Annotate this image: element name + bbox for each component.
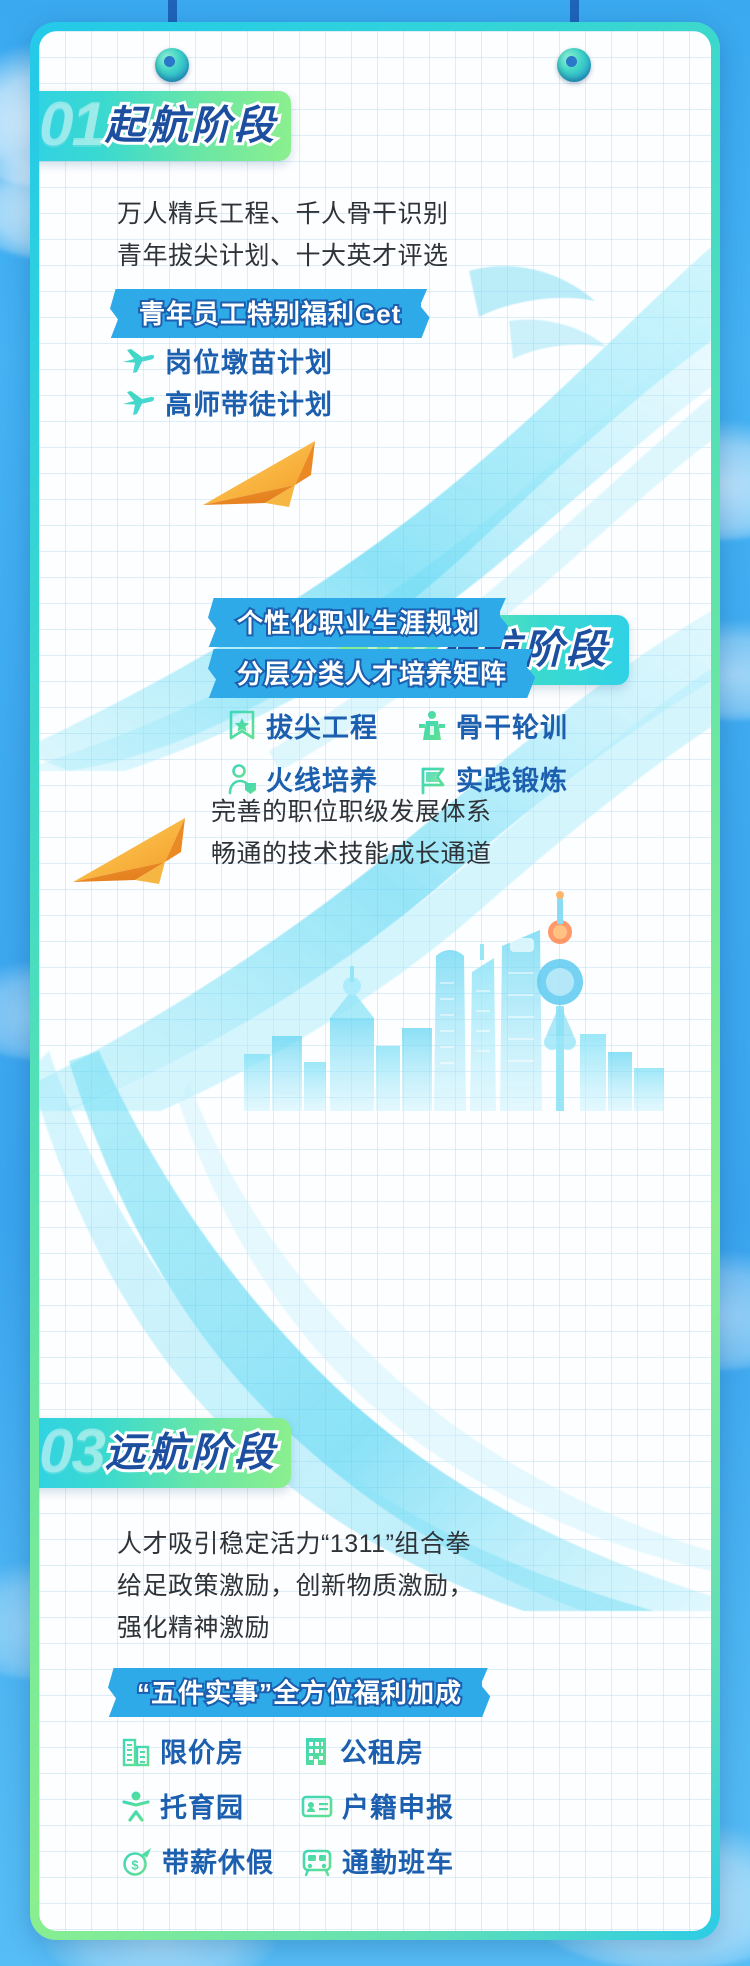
podium-speaker-icon xyxy=(417,710,447,742)
hanging-pin xyxy=(155,48,189,82)
bookmark-star-icon xyxy=(227,710,257,742)
stage-03-item-1-label: 公租房 xyxy=(340,1731,424,1770)
stage-03-item-2-label: 托育园 xyxy=(160,1786,244,1825)
stage-ribbon-03: 03 远航阶段 xyxy=(39,1418,291,1488)
benefit-banner-01: 青年员工特别福利Get xyxy=(119,289,421,338)
stage-paragraph-03: 人才吸引稳定活力“1311”组合拳 给足政策激励，创新物质激励， 强化精神激励 xyxy=(117,1523,637,1649)
stage-01-item-1: 高师带徒计划 xyxy=(121,383,333,422)
stage-title-01: 起航阶段 xyxy=(105,106,277,146)
id-card-icon xyxy=(301,1790,333,1822)
stage-02-banner-1: 分层分类人才培养矩阵 xyxy=(217,649,527,698)
paid-leave-icon: $ xyxy=(121,1845,153,1877)
stage-01-item-0-label: 岗位墩苗计划 xyxy=(165,341,333,380)
airplane-icon xyxy=(121,346,155,376)
shanghai-skyline-illustration xyxy=(244,886,664,1111)
stage-03-item-0: 限价房 xyxy=(121,1731,301,1770)
stage-03-item-2: 托育园 xyxy=(121,1786,301,1825)
card-content: 01 起航阶段 万人精兵工程、千人骨干识别 青年拔尖计划、十大英才评选 青年员工… xyxy=(39,31,711,1931)
stage-02-banner-0: 个性化职业生涯规划 xyxy=(217,598,500,647)
stage-02-item-0-label: 拔尖工程 xyxy=(266,706,378,745)
stage-03-item-3-label: 户籍申报 xyxy=(342,1786,454,1825)
stage-02-banner-0-text: 个性化职业生涯规划 xyxy=(237,603,480,640)
paper-plane-icon xyxy=(69,806,199,896)
stage-02-banner-1-text: 分层分类人才培养矩阵 xyxy=(237,654,507,691)
poster-card: 01 起航阶段 万人精兵工程、千人骨干识别 青年拔尖计划、十大英才评选 青年员工… xyxy=(30,22,720,1940)
stage-header-01: 01 起航阶段 xyxy=(39,91,291,161)
person-badge-icon xyxy=(227,763,257,795)
stage-02-items: 拔尖工程 骨干轮训 xyxy=(227,706,607,798)
stage-03-item-0-label: 限价房 xyxy=(160,1731,244,1770)
benefit-banner-03: “五件实事”全方位福利加成 xyxy=(117,1668,482,1717)
stage-03-item-4-label: 带薪休假 xyxy=(162,1841,274,1880)
hanging-pin xyxy=(557,48,591,82)
bus-icon xyxy=(301,1845,333,1877)
apartment-icon xyxy=(301,1735,331,1767)
stage-header-03: 03 远航阶段 xyxy=(39,1418,291,1488)
stage-03-item-5-label: 通勤班车 xyxy=(342,1841,454,1880)
stage-paragraph-01: 万人精兵工程、千人骨干识别 青年拔尖计划、十大英才评选 xyxy=(117,193,637,277)
stage-number-03: 03 xyxy=(39,1421,104,1483)
stage-03-item-1: 公租房 xyxy=(301,1731,501,1770)
stage-02-item-1: 骨干轮训 xyxy=(417,706,607,745)
stage-03-item-4: $ 带薪休假 xyxy=(121,1841,301,1880)
flag-practice-icon xyxy=(417,763,447,795)
stage-02-item-0: 拔尖工程 xyxy=(227,706,417,745)
svg-text:$: $ xyxy=(131,1857,139,1872)
stage-03-item-3: 户籍申报 xyxy=(301,1786,501,1825)
stage-ribbon-01: 01 起航阶段 xyxy=(39,91,291,161)
benefit-banner-03-text: “五件实事”全方位福利加成 xyxy=(137,1673,462,1710)
stage-03-item-5: 通勤班车 xyxy=(301,1841,501,1880)
paper-plane-icon xyxy=(199,429,329,519)
benefit-banner-01-text: 青年员工特别福利Get xyxy=(139,294,401,331)
stage-title-03: 远航阶段 xyxy=(105,1433,277,1473)
child-care-icon xyxy=(121,1790,151,1822)
airplane-icon xyxy=(121,388,155,418)
stage-03-items: 限价房 公租房 xyxy=(121,1731,501,1880)
building-icon xyxy=(121,1735,151,1767)
stage-02-item-1-label: 骨干轮训 xyxy=(456,706,568,745)
stage-number-01: 01 xyxy=(39,94,104,156)
stage-01-item-1-label: 高师带徒计划 xyxy=(165,383,333,422)
stage-paragraph-02: 完善的职位职级发展体系 畅通的技术技能成长通道 xyxy=(211,791,691,875)
stage-01-item-0: 岗位墩苗计划 xyxy=(121,341,333,380)
